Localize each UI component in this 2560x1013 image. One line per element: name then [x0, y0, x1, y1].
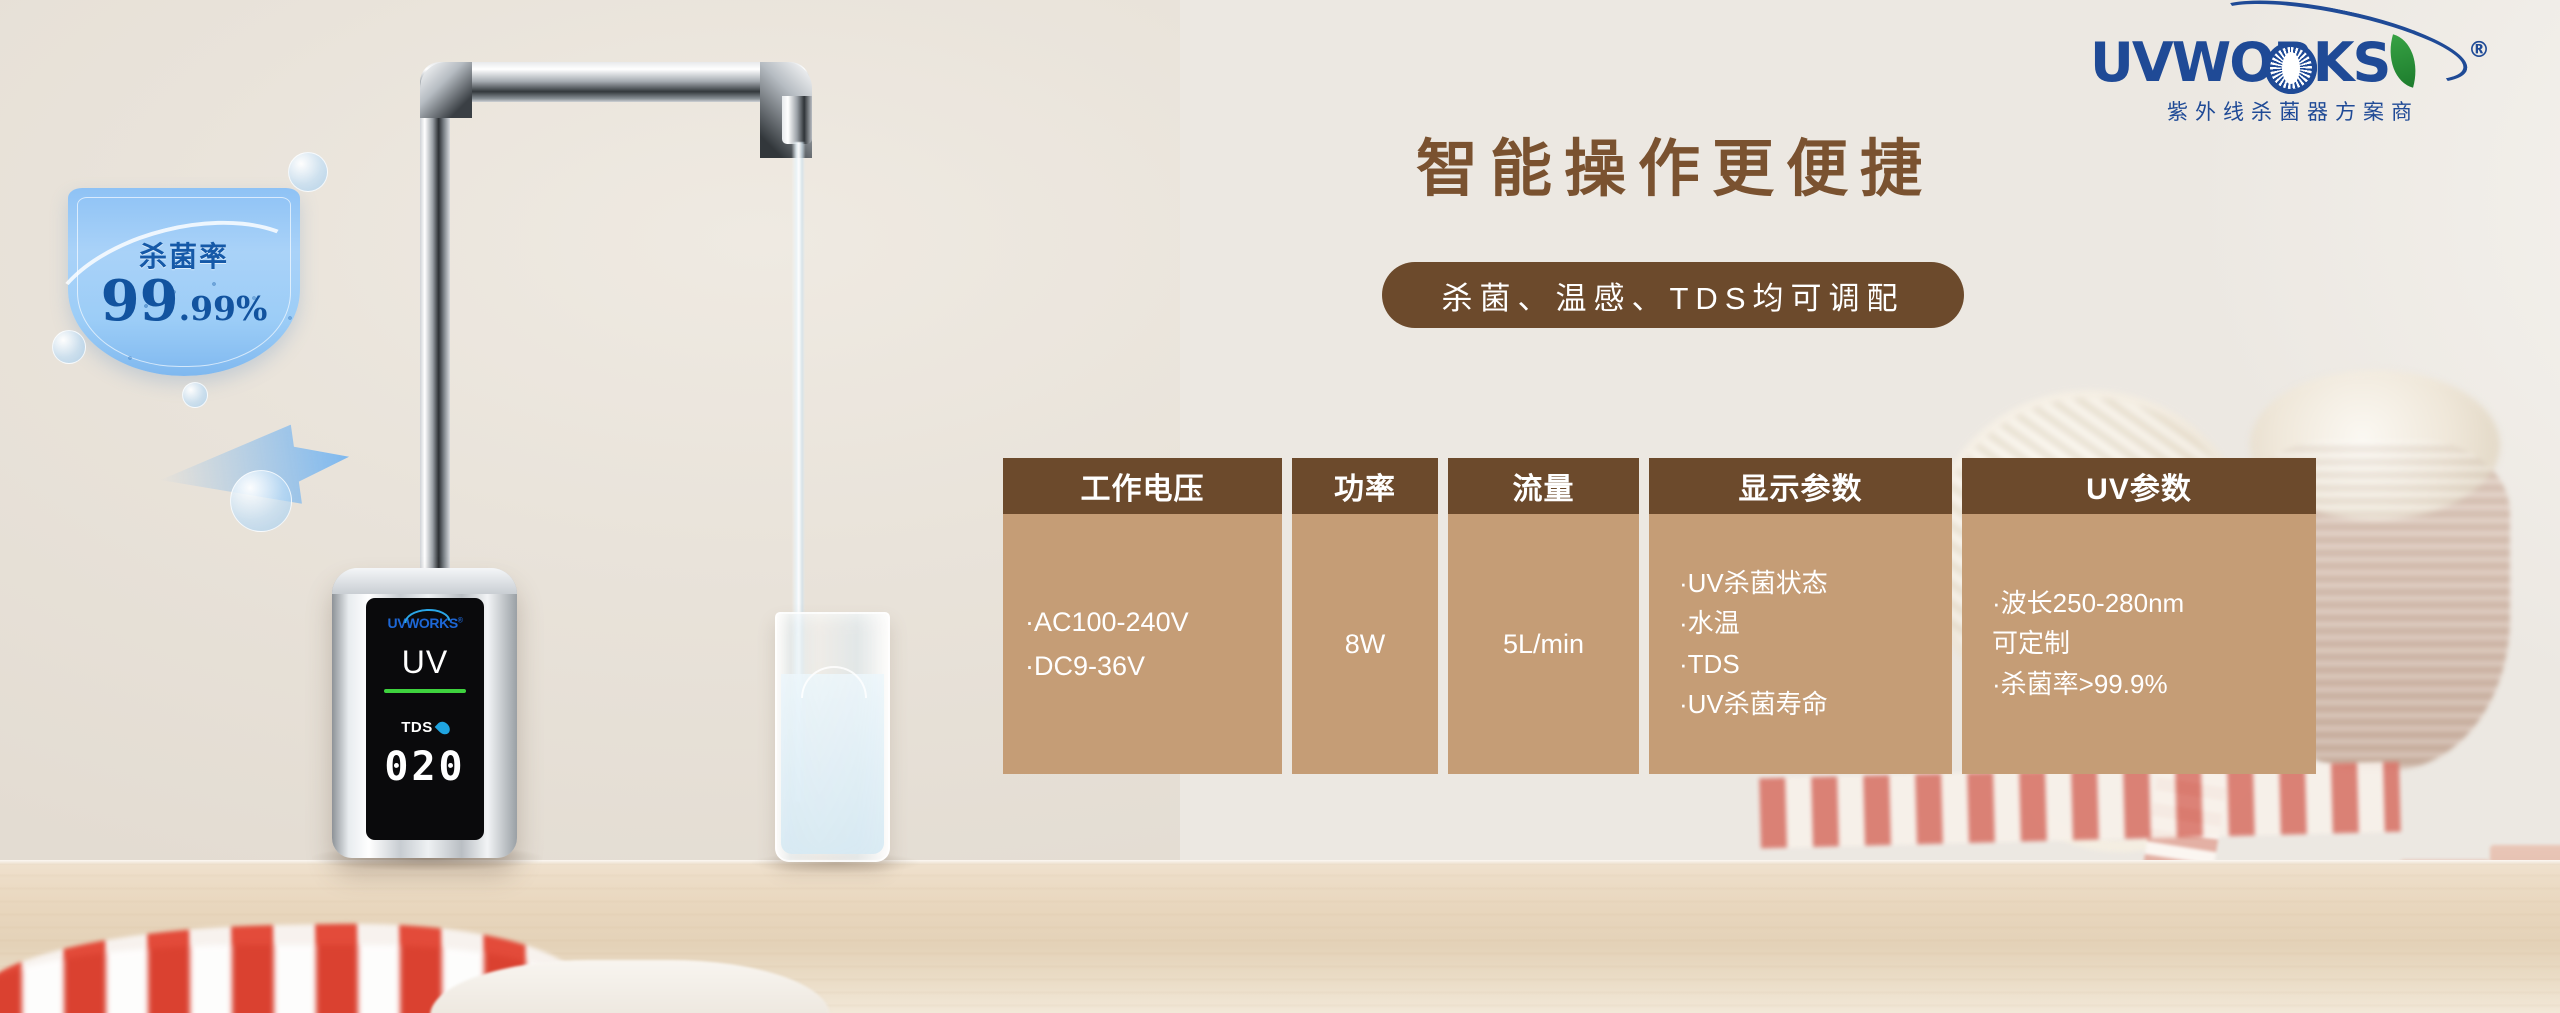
badge-value-integer: 99 — [101, 268, 179, 334]
spec-item: 可定制 — [1992, 628, 2070, 659]
brand-subtitle: 紫外线杀菌器方案商 — [2090, 96, 2490, 126]
water-drop-icon — [434, 719, 452, 737]
water-glass — [775, 612, 890, 862]
device-screen: UVWORKS® UV TDS 020 — [366, 598, 484, 840]
spec-item: ·水温 — [1679, 608, 1740, 639]
spec-item: ·UV杀菌状态 — [1679, 568, 1828, 599]
device-tds-row: TDS — [401, 719, 449, 736]
spec-body: ·波长250-280nm 可定制 ·杀菌率>99.9% — [1962, 514, 2316, 774]
device-top-bezel — [332, 568, 517, 594]
sun-burst-icon — [2265, 42, 2317, 94]
spec-body: ·AC100-240V ·DC9-36V — [1003, 514, 1282, 774]
spec-item: ·UV杀菌寿命 — [1679, 689, 1828, 720]
spec-item: 8W — [1345, 628, 1386, 660]
faucet-vertical-pipe — [420, 100, 450, 600]
bubble-icon-4 — [230, 470, 292, 532]
bubble-icon-3 — [182, 382, 208, 408]
spec-column-uv: UV参数 ·波长250-280nm 可定制 ·杀菌率>99.9% — [1962, 458, 2316, 774]
faucet-corner-left — [420, 62, 472, 118]
spec-header: UV参数 — [1962, 458, 2316, 514]
registered-trademark-icon: ® — [2468, 40, 2488, 62]
spec-item: ·TDS — [1679, 649, 1740, 680]
uv-sterilizer-device: UVWORKS® UV TDS 020 — [332, 568, 517, 858]
device-screen-logo: UVWORKS® — [387, 615, 462, 631]
device-tds-label: TDS — [401, 719, 433, 736]
spec-item: ·杀菌率>99.9% — [1992, 669, 2168, 700]
glass-water-fill — [781, 674, 884, 854]
spec-item: ·DC9-36V — [1025, 650, 1145, 682]
faucet-horizontal-arm — [420, 62, 810, 102]
device-logo-registered: ® — [458, 617, 463, 624]
spec-header: 流量 — [1448, 458, 1639, 514]
spec-item: ·AC100-240V — [1025, 606, 1189, 638]
spec-column-power: 功率 8W — [1292, 458, 1438, 774]
spec-header: 工作电压 — [1003, 458, 1282, 514]
page-title: 智能操作更便捷 — [1375, 118, 1975, 208]
bubble-icon-2 — [52, 330, 86, 364]
spec-header: 功率 — [1292, 458, 1438, 514]
device-status-bar — [384, 689, 466, 693]
badge-value-decimal: .99% — [179, 289, 268, 328]
spec-table: 工作电压 ·AC100-240V ·DC9-36V 功率 8W 流量 5L/mi… — [1003, 458, 2316, 774]
shield-shape: 杀菌率 99.99% — [68, 188, 300, 376]
spec-column-flow: 流量 5L/min — [1448, 458, 1639, 774]
bubble-icon-1 — [288, 152, 328, 192]
shield-text-group: 杀菌率 99.99% — [68, 188, 300, 376]
device-logo-arc-icon — [404, 608, 451, 623]
brand-wordmark-group: UVWORKS ® — [2090, 36, 2490, 90]
faucet-spout — [782, 96, 812, 144]
water-splash — [801, 666, 867, 698]
spec-item: ·波长250-280nm — [1992, 588, 2184, 619]
spec-column-display: 显示参数 ·UV杀菌状态 ·水温 ·TDS ·UV杀菌寿命 — [1649, 458, 1952, 774]
brand-logo: UVWORKS ® 紫外线杀菌器方案商 — [2090, 36, 2490, 166]
spec-header: 显示参数 — [1649, 458, 1952, 514]
spec-item: 5L/min — [1503, 628, 1584, 660]
device-tds-value: 020 — [384, 744, 465, 790]
spec-body: 8W — [1292, 514, 1438, 774]
device-mode-label: UV — [402, 644, 448, 681]
spec-body: 5L/min — [1448, 514, 1639, 774]
spec-body: ·UV杀菌状态 ·水温 ·TDS ·UV杀菌寿命 — [1649, 514, 1952, 774]
badge-value: 99.99% — [101, 273, 268, 329]
sterilization-rate-badge: 杀菌率 99.99% — [30, 130, 340, 390]
spec-column-voltage: 工作电压 ·AC100-240V ·DC9-36V — [1003, 458, 1282, 774]
subtitle-pill: 杀菌、温感、TDS均可调配 — [1382, 262, 1964, 328]
